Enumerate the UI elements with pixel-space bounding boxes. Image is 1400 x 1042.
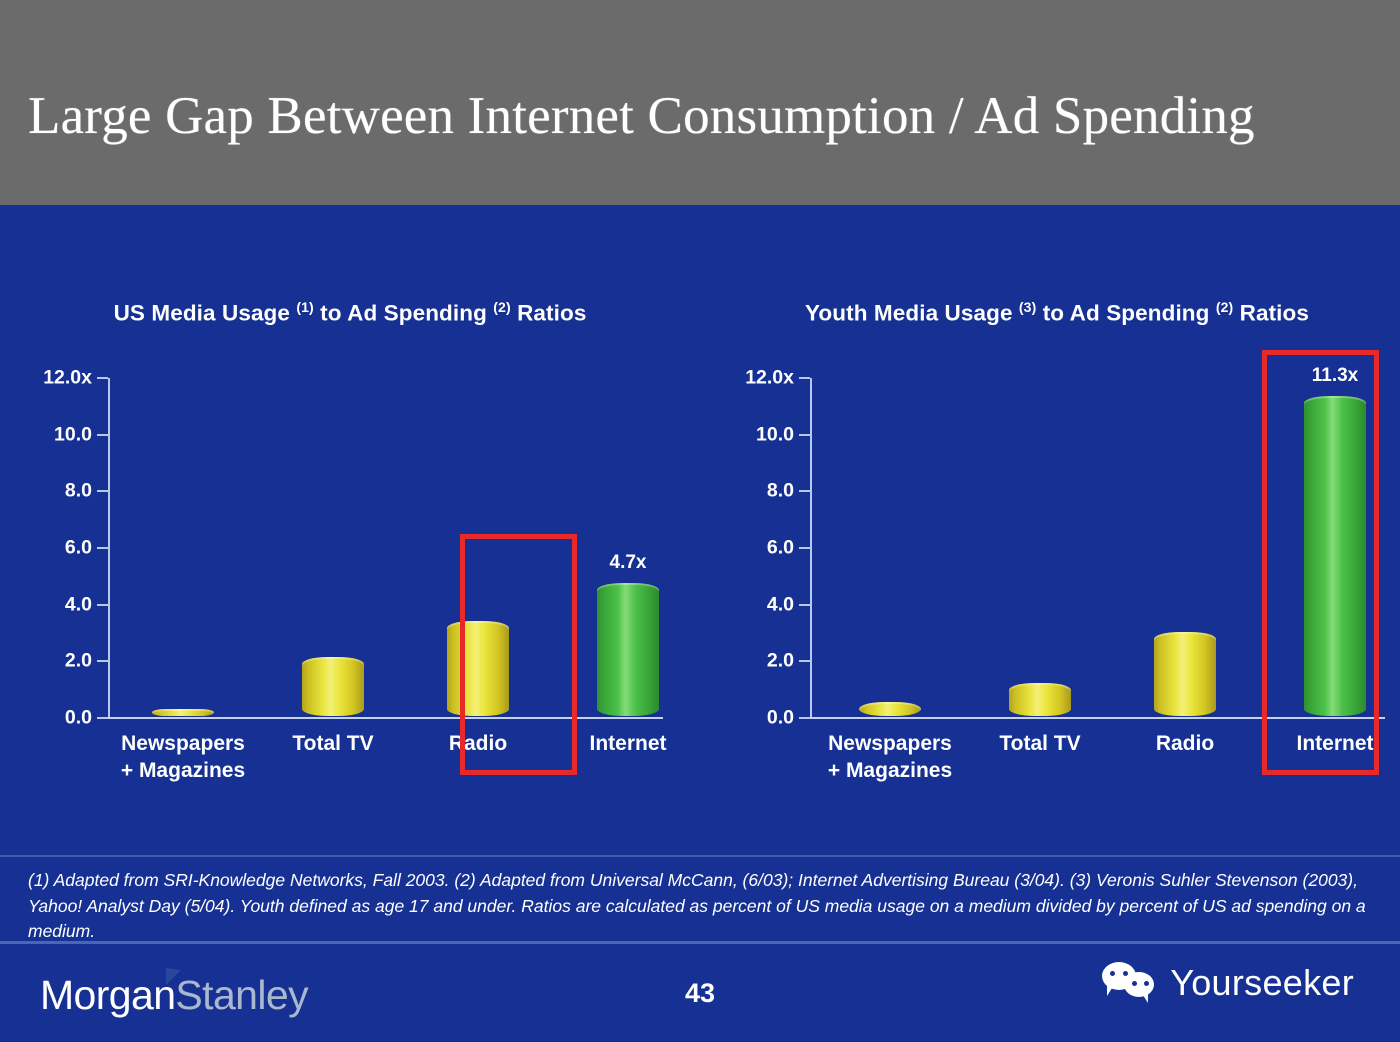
y-tick-label-6: 6.0 (767, 536, 794, 559)
y-tick-4 (97, 604, 108, 606)
x-label-line2: + Magazines (795, 757, 985, 784)
logo-word-morgan: Morgan (40, 972, 175, 1018)
bar-radio[interactable] (1154, 632, 1216, 716)
chart-title-text: US Media Usage (114, 301, 297, 326)
watermark-label: Yourseeker (1170, 962, 1354, 1004)
y-tick-label-8: 8.0 (767, 480, 794, 503)
chart-title-text: Ratios (1233, 301, 1309, 326)
chart-title-text: to Ad Spending (1036, 301, 1216, 326)
bar-value-internet: 4.7x (610, 552, 647, 574)
y-tick-label-0: 0.0 (767, 707, 794, 730)
y-tick-12 (799, 377, 810, 379)
chart-title-youth-media: Youth Media Usage (3) to Ad Spending (2)… (742, 290, 1372, 331)
x-axis-line (810, 717, 1385, 719)
footnote-divider-bottom (0, 941, 1400, 944)
y-tick-label-10: 10.0 (54, 423, 92, 446)
y-axis-line (810, 378, 812, 719)
y-tick-label-8: 8.0 (65, 480, 92, 503)
y-tick-12 (97, 377, 108, 379)
y-tick-label-10: 10.0 (756, 423, 794, 446)
y-tick-2 (97, 660, 108, 662)
bar-internet[interactable] (1304, 396, 1366, 716)
chart-title-us-media: US Media Usage (1) to Ad Spending (2) Ra… (40, 290, 660, 331)
plot-area-youth-media: 0.0 2.0 4.0 6.0 8.0 10.0 12.0x 11.3x New… (810, 378, 1385, 718)
footnote-divider-top (0, 855, 1400, 857)
y-tick-label-2: 2.0 (65, 650, 92, 673)
x-label-line2: + Magazines (88, 757, 278, 784)
chart-panel-us-media: US Media Usage (1) to Ad Spending (2) Ra… (0, 205, 712, 825)
x-label-internet: Internet (533, 730, 723, 757)
chart-title-text: Youth Media Usage (805, 301, 1019, 326)
y-tick-label-0: 0.0 (65, 707, 92, 730)
y-tick-label-12: 12.0x (745, 367, 794, 390)
bar-newspapers-magazines[interactable] (859, 702, 921, 716)
footnote-marker-2: (2) (1216, 299, 1233, 315)
y-axis-line (108, 378, 110, 719)
chart-title-text: Ratios (511, 301, 587, 326)
y-tick-label-4: 4.0 (767, 593, 794, 616)
page-number: 43 (650, 978, 750, 1009)
y-tick-6 (97, 547, 108, 549)
morgan-stanley-triangle-icon (166, 968, 181, 985)
chart-panel-youth-media: Youth Media Usage (3) to Ad Spending (2)… (712, 205, 1400, 825)
footnote-marker-2: (2) (493, 299, 510, 315)
plot-area-us-media: 0.0 2.0 4.0 6.0 8.0 10.0 12.0x 4.7x (108, 378, 663, 718)
yourseeker-watermark: Yourseeker (1102, 960, 1354, 1006)
chart-title-text: to Ad Spending (314, 301, 494, 326)
y-tick-0 (799, 717, 810, 719)
y-tick-label-2: 2.0 (767, 650, 794, 673)
bar-radio[interactable] (447, 621, 509, 716)
page-title: Large Gap Between Internet Consumption /… (28, 86, 1378, 146)
y-tick-label-12: 12.0x (43, 367, 92, 390)
bar-total-tv[interactable] (1009, 683, 1071, 716)
wechat-icon (1102, 960, 1158, 1006)
y-tick-4 (799, 604, 810, 606)
bar-newspapers-magazines[interactable] (152, 709, 214, 716)
y-tick-0 (97, 717, 108, 719)
y-tick-8 (799, 490, 810, 492)
bar-internet[interactable] (597, 583, 659, 716)
y-tick-label-6: 6.0 (65, 536, 92, 559)
y-tick-6 (799, 547, 810, 549)
bar-value-internet: 11.3x (1312, 365, 1359, 387)
y-tick-10 (799, 434, 810, 436)
footnote-marker-1: (1) (296, 299, 313, 315)
slide-canvas: Large Gap Between Internet Consumption /… (0, 0, 1400, 1042)
x-label-line1: Internet (533, 730, 723, 757)
logo-word-stanley: Stanley (175, 972, 308, 1018)
footnote-text: (1) Adapted from SRI-Knowledge Networks,… (28, 868, 1376, 945)
x-label-line1: Internet (1240, 730, 1400, 757)
x-axis-line (108, 717, 663, 719)
y-tick-10 (97, 434, 108, 436)
y-tick-label-4: 4.0 (65, 593, 92, 616)
x-label-internet: Internet (1240, 730, 1400, 757)
y-tick-8 (97, 490, 108, 492)
y-tick-2 (799, 660, 810, 662)
bar-total-tv[interactable] (302, 657, 364, 717)
footnote-marker-3: (3) (1019, 299, 1036, 315)
